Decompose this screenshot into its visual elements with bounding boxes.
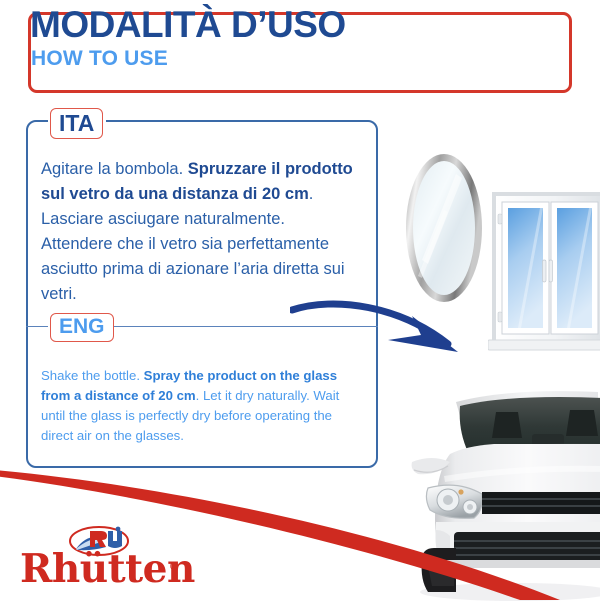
language-badge-eng: ENG <box>50 313 114 342</box>
pvc-window-icon <box>488 190 600 362</box>
ita-plain-1: Agitare la bombola. <box>41 160 188 178</box>
language-badge-ita: ITA <box>50 108 103 139</box>
page-subtitle: HOW TO USE <box>31 48 168 69</box>
brand-logo: Rhütten ® <box>20 525 210 591</box>
brand-name: Rhütten <box>20 550 195 589</box>
eng-plain-1: Shake the bottle. <box>41 368 144 383</box>
poster-canvas: MODALITÀ D’USO HOW TO USE ITA ENG Agitar… <box>0 0 600 600</box>
registered-mark: ® <box>170 561 178 573</box>
oval-mirror-icon <box>404 152 484 304</box>
page-title: MODALITÀ D’USO <box>30 6 346 43</box>
instructions-text-ita: Agitare la bombola. Spruzzare il prodott… <box>41 157 353 307</box>
instructions-text-eng: Shake the bottle. Spray the product on t… <box>41 366 353 446</box>
